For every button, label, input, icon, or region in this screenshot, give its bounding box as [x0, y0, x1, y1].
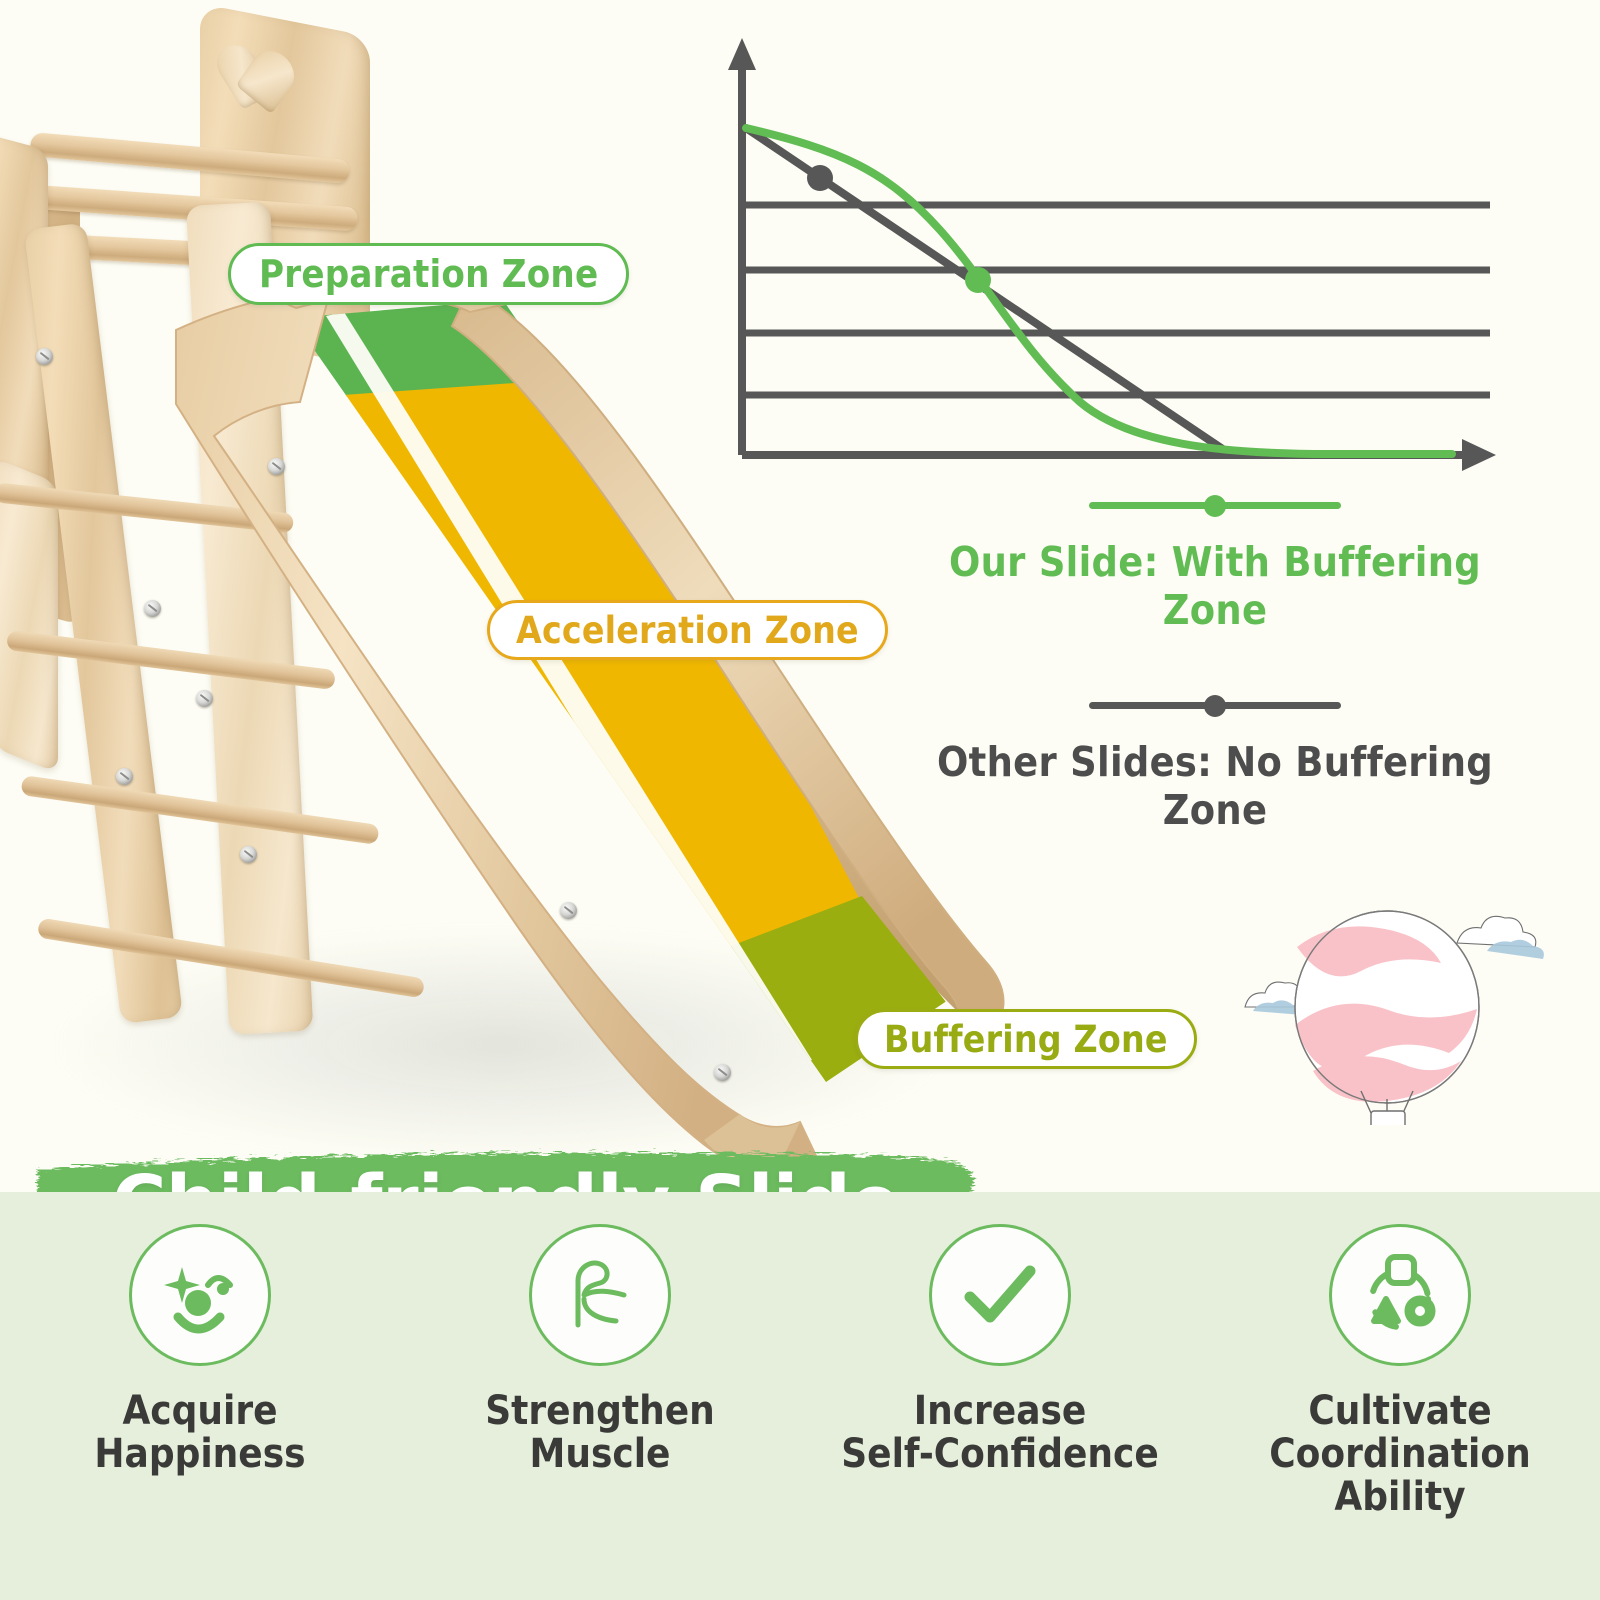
label-preparation-zone-text: Preparation Zone	[259, 252, 598, 296]
legend-swatch-our-slide	[905, 492, 1525, 518]
smile-icon	[178, 1317, 220, 1329]
legend-entry-other-slides: Other Slides: No Buffering Zone	[905, 692, 1525, 834]
speed-comparison-chart	[690, 30, 1540, 500]
label-buffering-zone: Buffering Zone	[855, 1009, 1197, 1069]
chart-x-axis-arrow	[1462, 439, 1496, 471]
legend-entry-our-slide: Our Slide: With Buffering Zone	[905, 492, 1525, 634]
benefit-item: Increase Self-Confidence	[800, 1192, 1200, 1600]
triangle-shape	[1374, 1299, 1398, 1321]
coordination-shapes-icon	[1329, 1224, 1471, 1366]
chart-svg	[690, 30, 1540, 500]
smiley-wink-icon	[129, 1224, 271, 1366]
chart-marker-our-slide	[965, 267, 991, 293]
label-buffering-zone-text: Buffering Zone	[884, 1018, 1168, 1061]
benefit-item: Cultivate Coordination Ability	[1200, 1192, 1600, 1600]
legend-dot-icon	[1204, 695, 1226, 717]
legend-label-other-slides: Other Slides: No Buffering Zone	[905, 738, 1525, 834]
chart-marker-other-slides	[807, 165, 833, 191]
benefit-label: Strengthen Muscle	[485, 1390, 715, 1476]
benefit-label: Cultivate Coordination Ability	[1200, 1390, 1600, 1520]
benefit-item: Acquire Happiness	[0, 1192, 400, 1600]
benefit-label: Increase Self-Confidence	[841, 1390, 1159, 1476]
infographic-root: Preparation Zone Acceleration Zone Buffe…	[0, 0, 1600, 1600]
chart-series-our-slide	[746, 128, 1452, 454]
benefits-panel: Acquire Happiness Strengthen Muscle Incr…	[0, 1192, 1600, 1600]
flexed-bicep-icon	[529, 1224, 671, 1366]
benefits-row: Acquire Happiness Strengthen Muscle Incr…	[0, 1192, 1600, 1600]
legend-label-our-slide: Our Slide: With Buffering Zone	[905, 538, 1525, 634]
legend-dot-icon	[1204, 495, 1226, 517]
benefit-item: Strengthen Muscle	[400, 1192, 800, 1600]
label-acceleration-zone-text: Acceleration Zone	[516, 609, 859, 652]
legend-swatch-other-slides	[905, 692, 1525, 718]
winking-eye-icon	[208, 1278, 230, 1285]
nose-icon	[185, 1290, 211, 1316]
balloon-basket	[1371, 1111, 1405, 1125]
chart-y-axis-arrow	[728, 38, 756, 70]
label-preparation-zone: Preparation Zone	[228, 243, 629, 305]
benefit-label: Acquire Happiness	[94, 1390, 305, 1476]
checkmark-icon	[929, 1224, 1071, 1366]
label-acceleration-zone: Acceleration Zone	[487, 600, 888, 660]
hot-air-balloon-icon	[1235, 885, 1555, 1125]
square-shape	[1388, 1257, 1414, 1283]
